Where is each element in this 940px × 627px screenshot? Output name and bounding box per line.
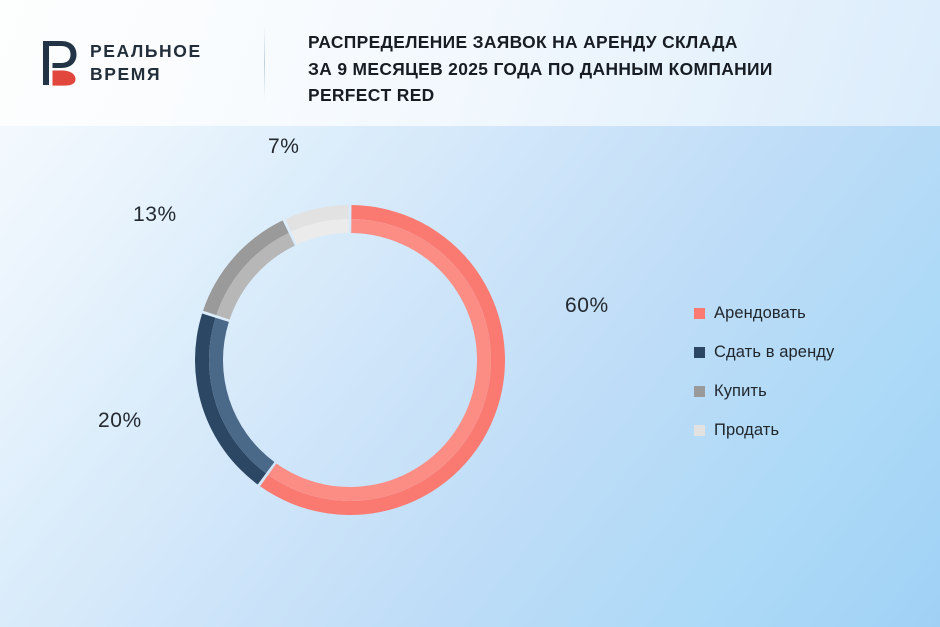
legend-item-arendovat[interactable]: Арендовать [694,294,914,333]
donut-slice-inner-sdatь-v-arendu [209,318,274,474]
brand-logo-line-1: РЕАЛЬНОЕ [90,40,260,63]
legend-swatch-arendovat [694,308,705,319]
legend-swatch-kupit [694,386,705,397]
legend-label-arendovat: Арендовать [714,304,806,323]
brand-logo-wordmark: РЕАЛЬНОЕ ВРЕМЯ [90,40,260,86]
donut-chart [175,185,525,535]
donut-slice-outer-arendovatь [260,205,505,515]
chart-title-line-3: PERFECT RED [308,82,908,109]
brand-logo-line-2: ВРЕМЯ [90,63,260,86]
realnoe-vremya-logo-icon [40,39,80,87]
chart-title: РАСПРЕДЕЛЕНИЕ ЗАЯВОК НА АРЕНДУ СКЛАДА ЗА… [308,29,908,109]
legend-item-sdat-v-arendu[interactable]: Сдать в аренду [694,333,914,372]
infographic-canvas: РЕАЛЬНОЕ ВРЕМЯ РАСПРЕДЕЛЕНИЕ ЗАЯВОК НА А… [0,0,940,627]
chart-title-line-2: ЗА 9 МЕСЯЦЕВ 2025 ГОДА ПО ДАННЫМ КОМПАНИ… [308,56,908,83]
chart-legend: Арендовать Сдать в аренду Купить Продать [694,294,914,450]
legend-label-sdat-v-arendu: Сдать в аренду [714,343,834,362]
slice-value-arendovat: 60% [565,294,609,318]
legend-item-prodat[interactable]: Продать [694,411,914,450]
slice-value-kupit: 13% [133,203,177,227]
header-divider [264,26,265,100]
legend-label-prodat: Продать [714,421,779,440]
brand-logo[interactable]: РЕАЛЬНОЕ ВРЕМЯ [40,38,260,92]
legend-label-kupit: Купить [714,382,767,401]
slice-value-sdat-v-arendu: 20% [98,409,142,433]
chart-title-line-1: РАСПРЕДЕЛЕНИЕ ЗАЯВОК НА АРЕНДУ СКЛАДА [308,29,908,56]
slice-value-prodat: 7% [268,135,300,159]
legend-swatch-prodat [694,425,705,436]
legend-swatch-sdat-v-arendu [694,347,705,358]
legend-item-kupit[interactable]: Купить [694,372,914,411]
